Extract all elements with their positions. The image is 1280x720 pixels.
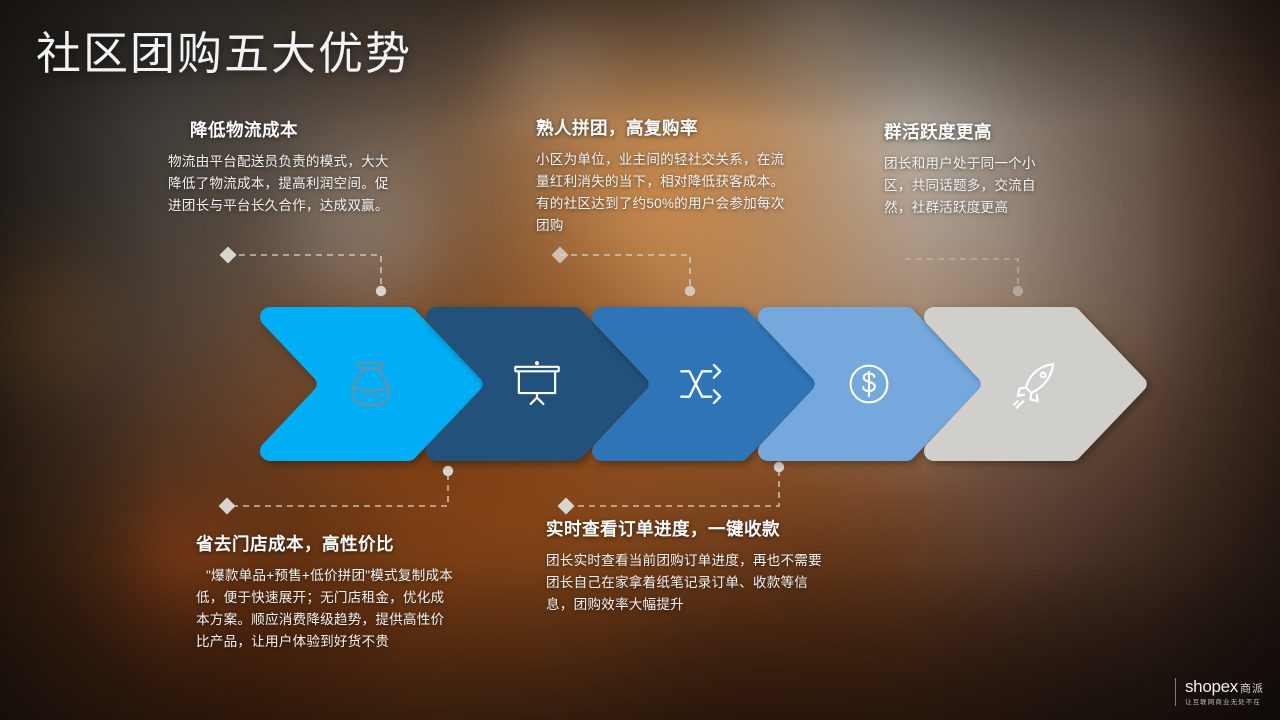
advantage-body-3: 团长和用户处于同一个小区，共同话题多，交流自然，社群活跃度更高	[884, 153, 1052, 219]
advantage-heading-1: 降低物流成本	[168, 120, 400, 142]
logo-chinese-name: 商派	[1240, 683, 1264, 695]
logo-tagline: 让互联网商业无处不在	[1185, 700, 1264, 707]
rocket-icon	[922, 305, 1147, 463]
advantage-heading-2: 熟人拼团，高复购率	[536, 118, 788, 140]
advantage-block-4: 省去门店成本，高性价比 "爆款单品+预售+低价拼团"模式复制成本低，便于快速展开…	[196, 534, 456, 653]
advantage-heading-5: 实时查看订单进度，一键收款	[546, 519, 832, 541]
shopex-logo: shopex商派 让互联网商业无处不在	[1165, 672, 1266, 711]
advantage-block-3: 群活跃度更高 团长和用户处于同一个小区，共同话题多，交流自然，社群活跃度更高	[884, 122, 1052, 219]
advantage-heading-4: 省去门店成本，高性价比	[196, 534, 456, 556]
logo-divider	[1175, 678, 1176, 707]
logo-wordmark: shopex	[1185, 677, 1238, 696]
advantage-heading-3: 群活跃度更高	[884, 122, 1052, 144]
advantage-block-5: 实时查看订单进度，一键收款 团长实时查看当前团购订单进度，再也不需要团长自己在家…	[546, 519, 832, 616]
advantage-body-5: 团长实时查看当前团购订单进度，再也不需要团长自己在家拿着纸笔记录订单、收款等信息…	[546, 550, 832, 616]
advantage-block-2: 熟人拼团，高复购率 小区为单位，业主间的轻社交关系，在流量红利消失的当下，相对降…	[536, 118, 788, 237]
chevron-step-5[interactable]	[922, 305, 1147, 463]
advantage-block-1: 降低物流成本 物流由平台配送员负责的模式，大大降低了物流成本，提高利润空间。促进…	[168, 120, 400, 217]
advantage-body-1: 物流由平台配送员负责的模式，大大降低了物流成本，提高利润空间。促进团长与平台长久…	[168, 151, 400, 217]
advantage-body-4: "爆款单品+预售+低价拼团"模式复制成本低，便于快速展开；无门店租金，优化成本方…	[196, 565, 456, 653]
advantage-body-2: 小区为单位，业主间的轻社交关系，在流量红利消失的当下，相对降低获客成本。有的社区…	[536, 149, 788, 237]
